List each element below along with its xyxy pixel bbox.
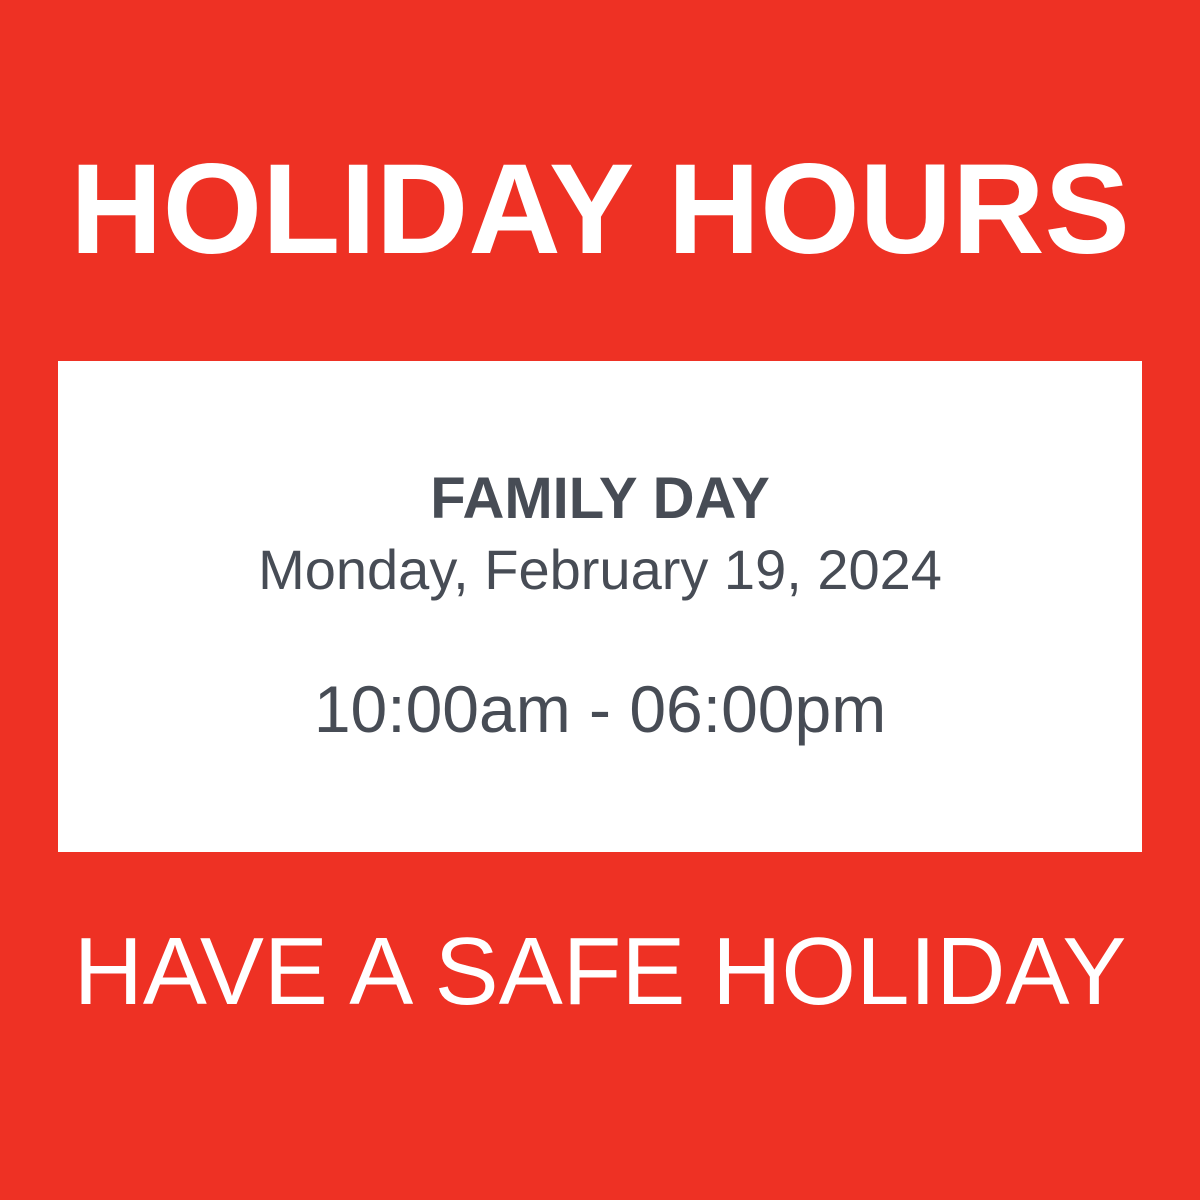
holiday-name: FAMILY DAY — [430, 468, 770, 530]
footer-message: HAVE A SAFE HOLIDAY — [0, 922, 1200, 1022]
holiday-info-card-content: FAMILY DAY Monday, February 19, 2024 10:… — [58, 361, 1142, 852]
page-title: HOLIDAY HOURS — [0, 146, 1200, 274]
holiday-hours-poster: HOLIDAY HOURS FAMILY DAY Monday, Februar… — [0, 0, 1200, 1200]
holiday-info-card: FAMILY DAY Monday, February 19, 2024 10:… — [58, 361, 1142, 852]
holiday-hours-range: 10:00am - 06:00pm — [314, 672, 886, 746]
holiday-date: Monday, February 19, 2024 — [258, 538, 942, 602]
